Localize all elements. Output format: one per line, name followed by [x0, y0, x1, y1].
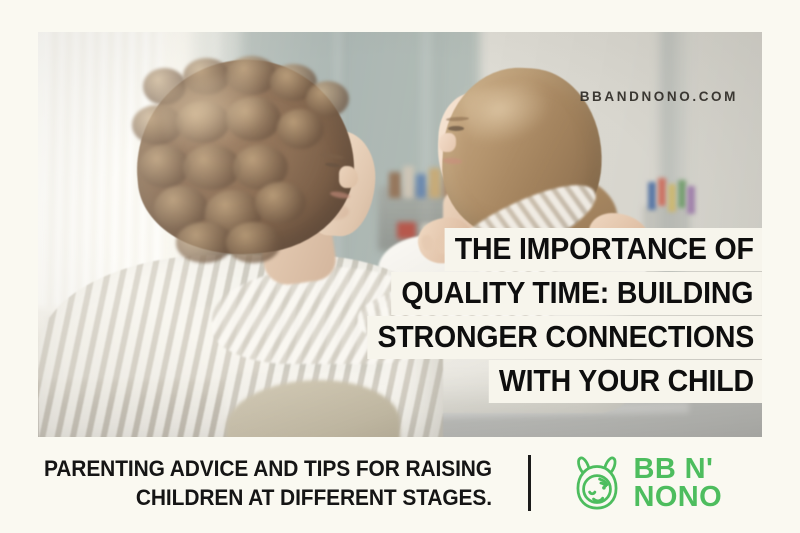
headline-line-4: WITH YOUR CHILD: [489, 360, 762, 403]
colored-pencil: [687, 186, 695, 214]
shelf-item: [429, 168, 441, 198]
child-nose: [439, 133, 456, 152]
headline-line-3: STRONGER CONNECTIONS: [367, 316, 762, 359]
brand-line-2: NONO: [634, 483, 723, 511]
hair-curl: [277, 109, 324, 150]
tagline-line-2: CHILDREN AT DIFFERENT STAGES.: [34, 483, 492, 512]
colored-pencil: [648, 182, 656, 210]
headline-line-1: THE IMPORTANCE OF: [445, 228, 762, 271]
headline-line-2: QUALITY TIME: BUILDING: [392, 272, 762, 315]
poster-canvas: BBANDNONO.COM THE IMPORTANCE OF QUALITY …: [0, 0, 800, 533]
child-eye: [448, 126, 464, 131]
footer-bar: PARENTING ADVICE AND TIPS FOR RAISING CH…: [0, 443, 800, 523]
tagline: PARENTING ADVICE AND TIPS FOR RAISING CH…: [34, 454, 492, 512]
shelf-item: [403, 166, 414, 198]
colored-pencil: [668, 184, 676, 212]
shelf-item: [389, 172, 401, 198]
shelf-item: [416, 174, 426, 198]
bunny-face-icon: [571, 455, 623, 511]
site-watermark: BBANDNONO.COM: [38, 89, 762, 104]
colored-pencil: [658, 178, 666, 206]
tagline-line-1: PARENTING ADVICE AND TIPS FOR RAISING: [34, 454, 492, 483]
mother-nose: [339, 166, 358, 188]
hair-curl: [255, 182, 306, 225]
headline-block: THE IMPORTANCE OF QUALITY TIME: BUILDING…: [38, 228, 762, 404]
colored-pencil: [678, 180, 686, 208]
footer-divider: [528, 455, 531, 511]
brand-lockup[interactable]: BB N' NONO: [571, 455, 723, 511]
brand-wordmark: BB N' NONO: [634, 455, 723, 511]
